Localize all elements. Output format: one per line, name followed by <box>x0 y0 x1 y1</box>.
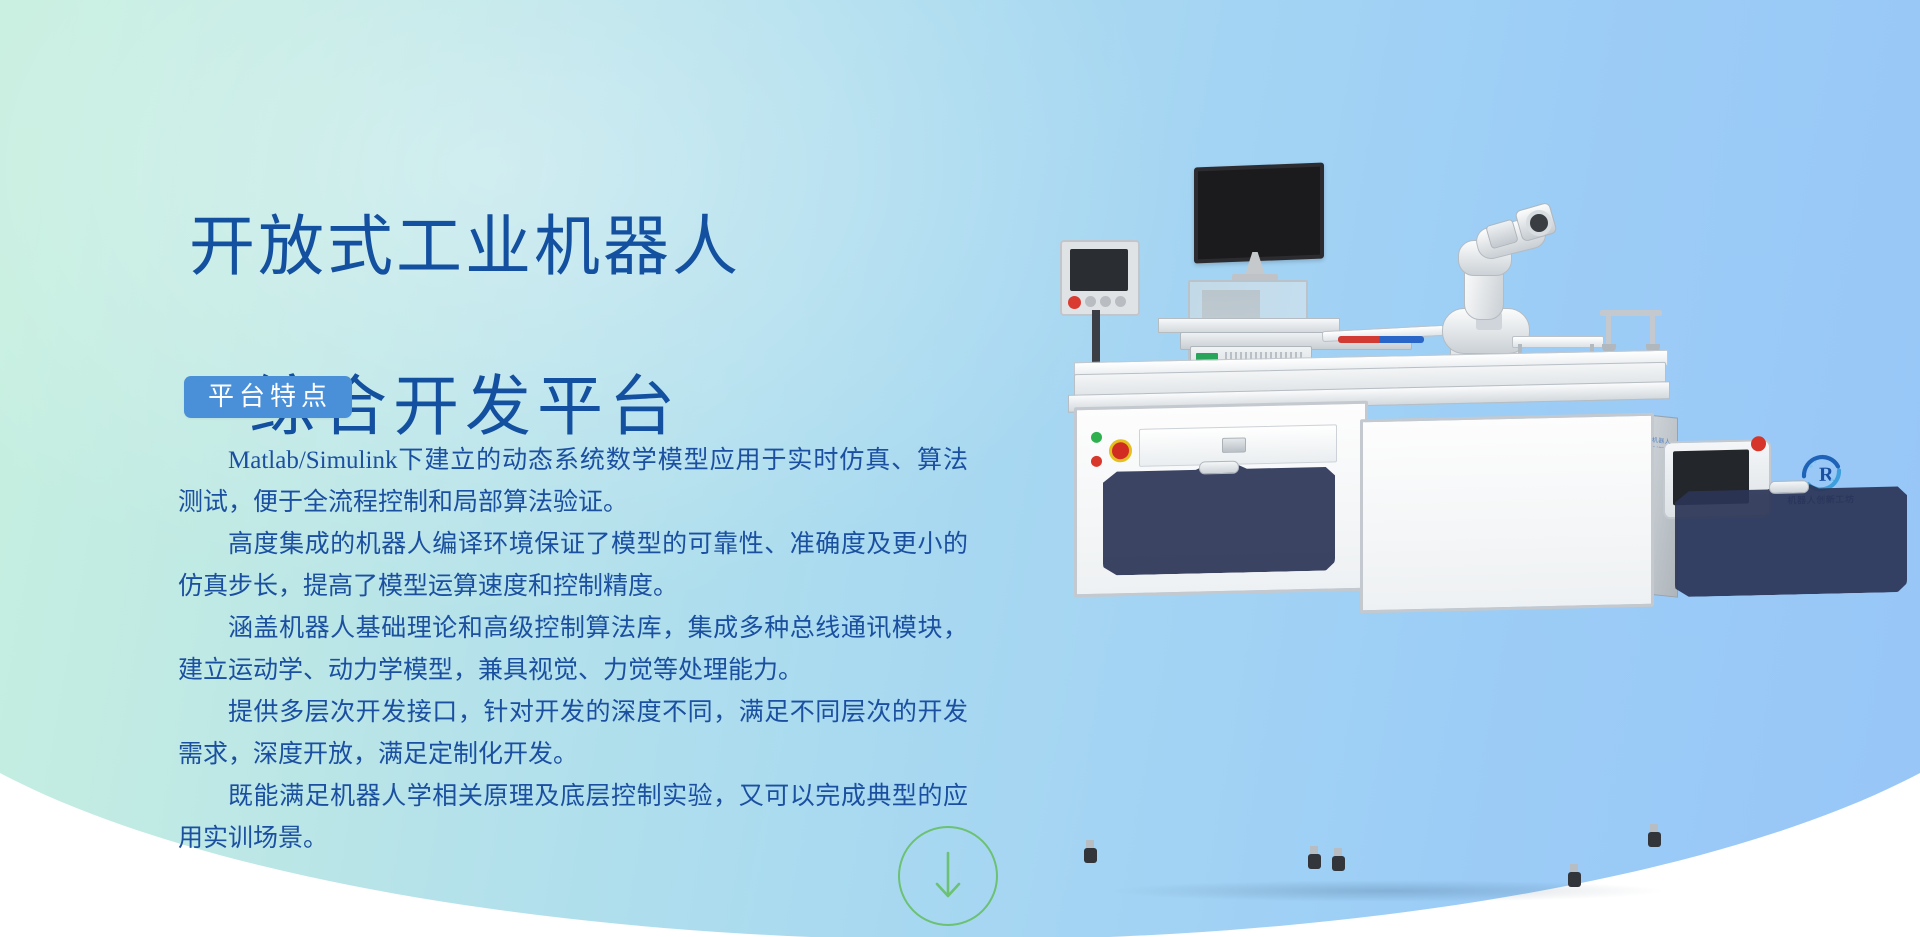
hmi-screen <box>1070 249 1128 291</box>
linear-axis-marker <box>1338 336 1424 343</box>
hmi-panel <box>1060 240 1140 316</box>
cabinet-assembly: R 机器人创新工坊 机器人创新 <box>1068 388 1668 608</box>
cabinet-door-window-right <box>1675 482 1907 597</box>
display-monitor <box>1194 163 1324 264</box>
cabinet-drawer <box>1139 424 1337 466</box>
feature-paragraph: 高度集成的机器人编译环境保证了模型的可靠性、准确度及更小的仿真步长，提高了模型运… <box>178 524 968 608</box>
control-button-panel <box>1091 431 1127 476</box>
cabinet-door-window-left <box>1103 462 1335 575</box>
arrow-down-icon <box>928 849 968 903</box>
hmi-button <box>1115 296 1126 307</box>
caster-wheel <box>1306 846 1322 868</box>
robot-end-effector <box>1526 210 1552 236</box>
cabinet-handle-left <box>1199 461 1239 475</box>
conveyor-module-upper <box>1158 318 1340 333</box>
feature-paragraph: 涵盖机器人基础理论和高级控制算法库，集成多种总线通讯模块，建立运动学、动力学模型… <box>178 608 968 692</box>
emergency-stop-icon <box>1751 436 1766 451</box>
cabinet-left <box>1074 401 1368 598</box>
feature-paragraph: 提供多层次开发接口，针对开发的深度不同，满足不同层次的开发需求，深度开放，满足定… <box>178 692 968 776</box>
vacuum-gripper-gantry <box>1600 310 1662 352</box>
start-button-icon <box>1091 432 1102 443</box>
cabinet-handle-right <box>1769 480 1809 494</box>
hero-banner: 开放式工业机器人 综合开发平台 平台特点 Matlab/Simulink下建立的… <box>0 0 1920 937</box>
product-shadow <box>1108 880 1668 902</box>
scroll-down-button[interactable] <box>898 826 998 926</box>
svg-text:R: R <box>1819 464 1834 486</box>
cabinet-right: R 机器人创新工坊 <box>1360 413 1654 614</box>
section-badge-platform-features: 平台特点 <box>184 376 352 418</box>
emergency-stop-icon <box>1068 296 1081 309</box>
feature-paragraph: Matlab/Simulink下建立的动态系统数学模型应用于实时仿真、算法测试，… <box>178 440 968 524</box>
hmi-button-row <box>1068 296 1132 310</box>
caster-wheel <box>1330 848 1346 870</box>
hmi-button <box>1085 296 1096 307</box>
caster-wheel <box>1646 824 1662 846</box>
caster-wheel <box>1082 840 1098 862</box>
hero-text-column: 开放式工业机器人 综合开发平台 平台特点 Matlab/Simulink下建立的… <box>0 0 1000 937</box>
page-title-line-1: 开放式工业机器人 <box>0 208 930 288</box>
feature-paragraph: 既能满足机器人学相关原理及底层控制实验，又可以完成典型的应用实训场景。 <box>178 776 968 860</box>
emergency-stop-icon <box>1109 439 1132 463</box>
product-photo: R 机器人创新工坊 机器人创新 <box>1060 140 1680 780</box>
feature-paragraph-list: Matlab/Simulink下建立的动态系统数学模型应用于实时仿真、算法测试，… <box>178 440 968 860</box>
side-brand-logo-text: 机器人创新 <box>1652 435 1676 450</box>
hmi-button <box>1100 296 1111 307</box>
stop-button-icon <box>1091 456 1102 467</box>
drawer-lock-icon <box>1222 437 1246 453</box>
page-title-line-2: 综合开发平台 <box>0 368 930 448</box>
